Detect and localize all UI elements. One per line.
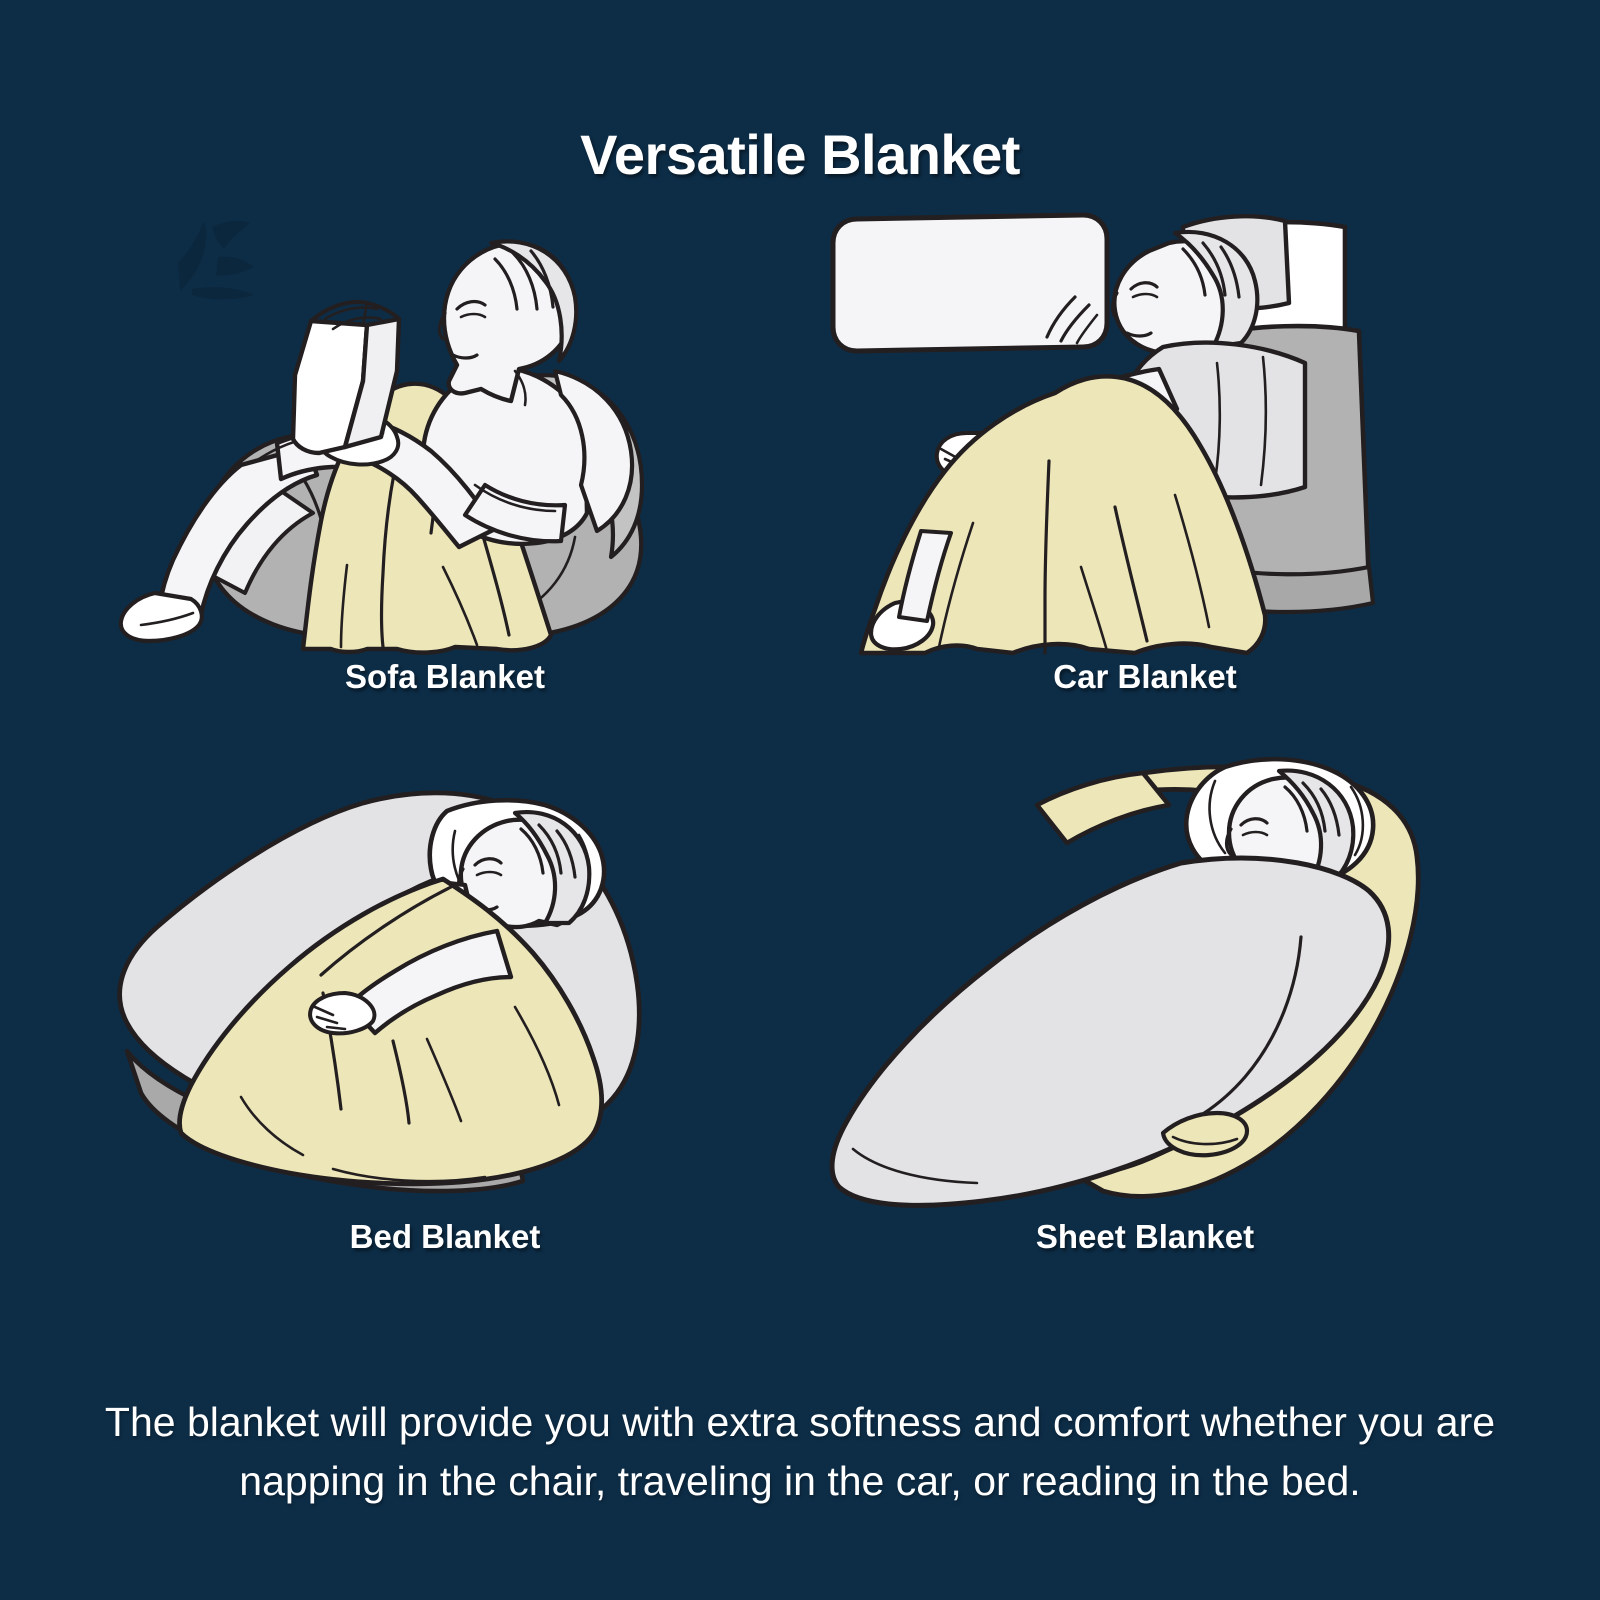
infographic-page: Versatile Blanket [0,0,1600,1600]
panel-caption-sheet: Sheet Blanket [745,1218,1545,1256]
panel-car-blanket: Car Blanket [745,185,1545,745]
panel-sheet-blanket: Sheet Blanket [745,745,1545,1305]
panel-caption-car: Car Blanket [745,658,1545,696]
panel-caption-sofa: Sofa Blanket [45,658,845,696]
sheet-blanket-illustration [745,745,1545,1215]
panel-sofa-blanket: Sofa Blanket [45,185,845,745]
panel-grid: Sofa Blanket [0,185,1600,1305]
page-title: Versatile Blanket [0,122,1600,187]
panel-bed-blanket: Bed Blanket [45,745,845,1305]
panel-caption-bed: Bed Blanket [45,1218,845,1256]
car-blanket-illustration [745,185,1545,655]
bed-blanket-illustration [45,745,845,1215]
sofa-blanket-illustration [45,185,845,655]
footer-description: The blanket will provide you with extra … [60,1393,1540,1512]
